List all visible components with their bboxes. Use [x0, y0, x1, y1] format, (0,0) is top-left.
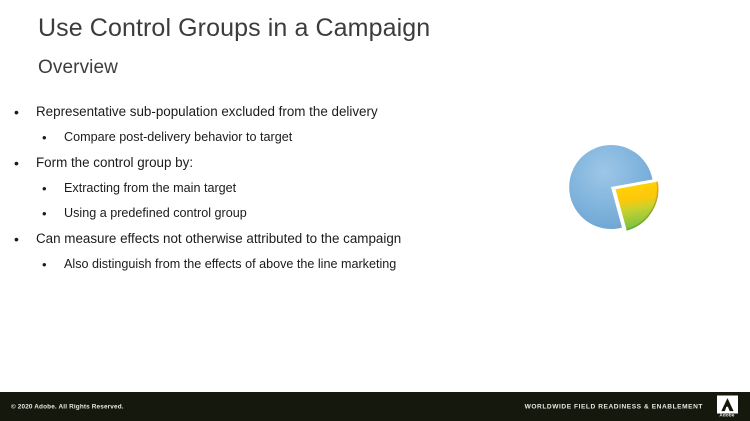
list-item: • Form the control group by: [14, 150, 534, 176]
slide-canvas: Use Control Groups in a Campaign Overvie… [0, 0, 750, 421]
list-item-label: Representative sub-population excluded f… [36, 99, 378, 125]
bullet-list: • Representative sub-population excluded… [14, 99, 534, 277]
list-item: • Can measure effects not otherwise attr… [14, 226, 534, 252]
pie-chart-exploded-icon [563, 139, 659, 235]
list-item: • Using a predefined control group [14, 201, 534, 226]
list-item-label: Extracting from the main target [64, 176, 236, 201]
list-item: • Compare post-delivery behavior to targ… [14, 125, 534, 150]
list-item: • Extracting from the main target [14, 176, 534, 201]
bullet-marker-icon: • [14, 99, 36, 125]
adobe-logo-icon: Adobe [712, 394, 742, 419]
slide-footer: © 2020 Adobe. All Rights Reserved. WORLD… [0, 392, 750, 421]
bullet-marker-icon: • [42, 176, 64, 201]
list-item: • Representative sub-population excluded… [14, 99, 534, 125]
list-item-label: Compare post-delivery behavior to target [64, 125, 292, 150]
footer-tagline: WORLDWIDE FIELD READINESS & ENABLEMENT [525, 403, 703, 410]
list-item-label: Can measure effects not otherwise attrib… [36, 226, 401, 252]
footer-copyright: © 2020 Adobe. All Rights Reserved. [11, 403, 124, 410]
bullet-marker-icon: • [42, 125, 64, 150]
adobe-logo-wordmark: Adobe [719, 413, 734, 418]
list-item-label: Form the control group by: [36, 150, 193, 176]
bullet-marker-icon: • [42, 201, 64, 226]
list-item: • Also distinguish from the effects of a… [14, 252, 534, 277]
page-subtitle: Overview [38, 57, 118, 79]
list-item-label: Using a predefined control group [64, 201, 247, 226]
list-item-label: Also distinguish from the effects of abo… [64, 252, 396, 277]
bullet-marker-icon: • [14, 226, 36, 252]
bullet-marker-icon: • [14, 150, 36, 176]
page-title: Use Control Groups in a Campaign [38, 14, 430, 43]
bullet-marker-icon: • [42, 252, 64, 277]
